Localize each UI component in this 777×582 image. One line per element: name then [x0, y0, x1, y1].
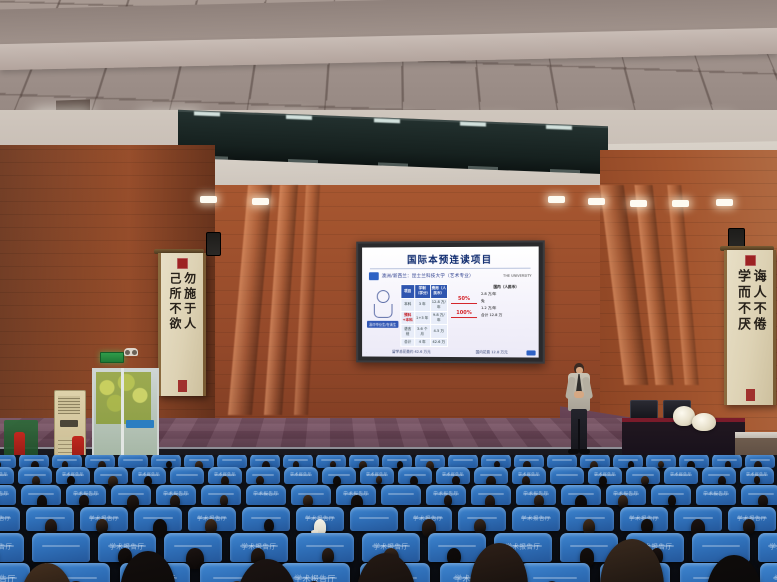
- slide-percent-2: 100%: [451, 310, 477, 318]
- auditorium-seat[interactable]: 学术报告厅: [664, 467, 698, 484]
- table-row: 2.8 万/年: [480, 291, 533, 298]
- table-row: 语言班 3-6 个月 4.5 万: [401, 325, 448, 338]
- seat-logo-text: 学术报告厅: [0, 472, 8, 477]
- slide-table-left: 项目 学制（学分） 费用（人民币） 本科 3 年 12.8 万/年 预科+本科: [400, 284, 448, 347]
- table-row: 合计 4 年 42.6 万: [401, 338, 448, 347]
- td-l12: 9.8 万/年: [430, 311, 447, 324]
- ac-control-panel[interactable]: [60, 420, 78, 427]
- slide-footer-left: 留学总花费约 42.6 万元: [392, 350, 431, 355]
- wall-downlight-5: [716, 199, 733, 206]
- exit-sign: [100, 352, 124, 363]
- auditorium-seat[interactable]: [381, 485, 421, 505]
- banner-seal-bottom-right: [746, 389, 755, 401]
- td-l30: 合计: [401, 338, 414, 346]
- td-l10: 预科+本科: [401, 311, 414, 324]
- auditorium-seat[interactable]: 学术报告厅: [0, 485, 16, 505]
- audience-member-head: [322, 548, 335, 564]
- table-header-row: 国内（人民币）: [480, 284, 533, 291]
- audience-member-head: [743, 519, 755, 534]
- auditorium-seat[interactable]: 学术报告厅: [284, 467, 318, 484]
- slide-corner-badge: [526, 350, 535, 355]
- seat-logo-text: 学术报告厅: [0, 573, 16, 582]
- seat-logo-text: 学术报告厅: [703, 491, 728, 497]
- td-l32: 42.6 万: [430, 338, 447, 346]
- speaker-hands-holding-device: [574, 391, 584, 398]
- audience-member-head: [618, 495, 628, 507]
- slide-body: 高中毕业生/在读生 项目 学制（学分） 费用（人民币） 本科 3 年: [362, 284, 539, 348]
- auditorium-seat[interactable]: 学术报告厅: [758, 533, 777, 562]
- slide-footer: 留学总花费约 42.6 万元 国内花费 12.8 万元: [362, 347, 539, 356]
- auditorium-seat[interactable]: 学术报告厅: [246, 485, 286, 505]
- banner-left: 己所不欲 勿施于人: [158, 253, 206, 396]
- auditorium-seat[interactable]: [350, 507, 398, 531]
- slide-person-figure: 高中毕业生/在读生: [368, 284, 397, 328]
- td-l22: 4.5 万: [430, 325, 447, 338]
- seat-logo-text: 学术报告厅: [253, 491, 278, 497]
- wall-downlight-4: [672, 200, 689, 207]
- figure-head-icon: [376, 290, 389, 303]
- auditorium-photo: 己所不欲 勿施于人 学而不厌 诲人不倦 国际本预连读项目 澳洲/新西兰：昆士兰科…: [0, 0, 777, 582]
- auditorium-seat[interactable]: 学术报告厅: [0, 467, 14, 484]
- auditorium-seat[interactable]: 学术报告厅: [0, 507, 20, 531]
- banner-seal-top-left: [177, 258, 188, 269]
- speaker-leg-split: [578, 419, 580, 451]
- th-left-1: 学制（学分）: [414, 285, 430, 299]
- table-row: 1.2 万/年: [480, 305, 533, 312]
- banner-seal-bottom-left: [178, 380, 187, 392]
- slide-subtitle: 澳洲/新西兰：昆士兰科技大学（艺术专业）: [382, 273, 474, 279]
- table-row: 预科+本科 1+3 年 9.8 万/年: [401, 311, 448, 324]
- td-l01: 3 年: [414, 298, 430, 311]
- projection-screen: 国际本预连读项目 澳洲/新西兰：昆士兰科技大学（艺术专业） THE UNIVER…: [356, 240, 545, 363]
- td-l00: 本科: [401, 298, 414, 311]
- stage-chair-1: [630, 400, 658, 419]
- seat-logo-text: 学术报告厅: [0, 491, 9, 497]
- audience-member-head: [303, 495, 312, 507]
- audience-member-head: [220, 495, 229, 506]
- slide-percent-1: 50%: [451, 296, 477, 304]
- banner-right: 学而不厌 诲人不倦: [724, 250, 776, 405]
- td-l11: 1+3 年: [414, 311, 430, 324]
- audience-member-head: [153, 519, 167, 536]
- audience-member-head: [641, 519, 652, 533]
- table-header-row: 项目 学制（学分） 费用（人民币）: [401, 285, 448, 299]
- banner-right-line-2: 诲人不倦: [751, 269, 765, 387]
- door-sign: [126, 420, 154, 428]
- audience-member-head: [166, 461, 172, 468]
- speaker-shoe-left: [568, 449, 579, 454]
- banner-seal-top-right: [745, 255, 756, 266]
- wall-downlight-2: [588, 198, 605, 205]
- auditorium-seat[interactable]: 学术报告厅: [696, 485, 736, 505]
- audience-member-head: [641, 476, 648, 485]
- banner-right-line-1: 学而不厌: [735, 269, 749, 387]
- audience-area: 学术报告厅学术报告厅学术报告厅学术报告厅学术报告厅学术报告厅学术报告厅学术报告厅…: [0, 455, 777, 582]
- audience-member-head: [264, 519, 274, 532]
- td-l20: 语言班: [401, 325, 414, 338]
- td-r3: 合计 12.8 万: [480, 312, 533, 319]
- wall-downlight-1: [548, 196, 565, 203]
- audience-member-head: [256, 476, 263, 485]
- slide-title: 国际本预连读项目: [362, 251, 539, 266]
- seat-logo-text: 学术报告厅: [290, 472, 312, 477]
- audience-member-head: [79, 495, 88, 507]
- audience-member-head: [170, 495, 180, 507]
- slide-bullet-chip: [369, 272, 379, 280]
- td-l31: 4 年: [414, 338, 430, 346]
- figure-body-icon: [373, 304, 392, 318]
- audience-member-head: [444, 495, 453, 506]
- slide-title-rule: [370, 268, 531, 270]
- auditorium-seat[interactable]: [520, 563, 590, 582]
- seat-logo-text: 学术报告厅: [0, 514, 11, 522]
- td-r2: 1.2 万/年: [480, 305, 533, 312]
- banner-left-line-2: 勿施于人: [183, 272, 196, 378]
- wall-downlight-6: [200, 196, 217, 203]
- slide-footer-right: 国内花费 12.8 万元: [476, 350, 508, 355]
- auditorium-seat[interactable]: 学术报告厅: [512, 507, 560, 531]
- slide-logo-text: THE UNIVERSITY: [503, 274, 531, 278]
- audience-member-head: [452, 476, 459, 485]
- audience-member-head: [534, 495, 543, 507]
- audience-member-head: [96, 519, 107, 533]
- auditorium-seat[interactable]: [32, 533, 90, 562]
- th-right-0: 国内（人民币）: [480, 284, 533, 291]
- seat-logo-text: 学术报告厅: [670, 472, 692, 477]
- slide-table-right: 国内（人民币） 2.8 万/年 免 1.2 万/年 合计 12.8 万: [480, 284, 533, 319]
- presentation-slide: 国际本预连读项目 澳洲/新西兰：昆士兰科技大学（艺术专业） THE UNIVER…: [362, 246, 539, 357]
- td-l02: 12.8 万/年: [430, 298, 447, 311]
- speaker-shoe-right: [579, 449, 590, 454]
- seat-logo-text: 学术报告厅: [0, 542, 13, 551]
- td-l21: 3-6 个月: [414, 325, 430, 338]
- slide-page-number: ·: [366, 351, 367, 355]
- seat-logo-text: 学术报告厅: [518, 472, 540, 477]
- banner-left-line-1: 己所不欲: [168, 272, 181, 378]
- td-r0: 2.8 万/年: [480, 291, 533, 298]
- th-left-2: 费用（人民币）: [430, 285, 447, 299]
- seat-logo-text: 学术报告厅: [521, 514, 551, 522]
- auditorium-seat[interactable]: [550, 467, 584, 484]
- auditorium-seat[interactable]: [170, 467, 204, 484]
- floral-arrangement-2: [692, 413, 716, 431]
- wall-downlight-3: [630, 200, 647, 207]
- auditorium-seat[interactable]: 学术报告厅: [760, 563, 777, 582]
- slide-subtitle-row: 澳洲/新西兰：昆士兰科技大学（艺术专业） THE UNIVERSITY: [369, 272, 532, 280]
- audience-member-head: [67, 476, 74, 485]
- audience-member-head: [658, 461, 664, 468]
- wall-downlight-7: [252, 198, 269, 205]
- banner-right-text: 学而不厌 诲人不倦: [735, 269, 764, 387]
- audience-member-head: [333, 476, 341, 486]
- table-row: 合计 12.8 万: [480, 312, 533, 319]
- banner-left-text: 己所不欲 勿施于人: [168, 272, 195, 378]
- table-row: 免: [480, 298, 533, 305]
- emergency-light: [124, 348, 138, 356]
- th-left-0: 项目: [401, 285, 414, 299]
- slide-person-label: 高中毕业生/在读生: [367, 321, 398, 328]
- audience-member-head: [758, 495, 767, 507]
- wall-speaker-left: [206, 232, 221, 256]
- seat-logo-text: 学术报告厅: [769, 542, 777, 551]
- slide-percent-column: 50% 100%: [451, 284, 477, 318]
- audience-member-head: [668, 495, 677, 506]
- auditorium-seat[interactable]: 学术报告厅: [0, 533, 24, 562]
- speaker-person: [566, 363, 592, 459]
- ac-grille-icon: [58, 396, 80, 414]
- table-row: 本科 3 年 12.8 万/年: [401, 298, 448, 311]
- td-r1: 免: [480, 298, 533, 305]
